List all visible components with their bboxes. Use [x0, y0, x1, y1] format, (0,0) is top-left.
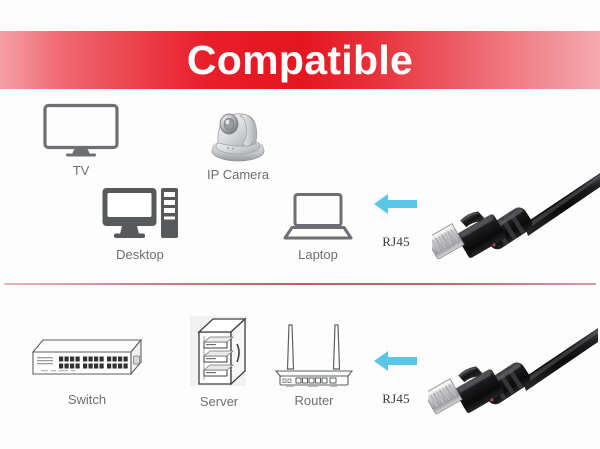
rj45-cable-icon-bottom: [428, 322, 600, 423]
device-server: Server: [186, 314, 252, 409]
section-divider: [4, 283, 596, 285]
device-ip-camera: IP Camera: [205, 101, 271, 182]
device-label-desktop: Desktop: [116, 247, 164, 262]
header-banner: Compatible: [0, 31, 600, 89]
section-consumer-devices: TV: [0, 89, 600, 283]
device-switch: Switch: [27, 334, 147, 407]
desktop-icon: [101, 185, 179, 243]
router-icon: [268, 321, 360, 389]
arrow-left-icon: [374, 348, 418, 379]
device-label-tv: TV: [73, 163, 90, 178]
device-label-server: Server: [200, 394, 238, 409]
device-label-router: Router: [294, 393, 333, 408]
connector-label-rj45-top: RJ45: [382, 234, 410, 250]
device-label-switch: Switch: [68, 392, 106, 407]
device-tv: TV: [42, 103, 120, 178]
device-label-ip-camera: IP Camera: [207, 167, 269, 182]
connector-rj45-top: RJ45: [374, 191, 418, 250]
ip-camera-icon: [205, 101, 271, 163]
page-title: Compatible: [187, 40, 413, 81]
device-desktop: Desktop: [101, 185, 179, 262]
device-laptop: Laptop: [283, 192, 353, 262]
arrow-left-icon: [374, 191, 418, 222]
tv-icon: [42, 103, 120, 159]
section-network-devices: Switch: [0, 286, 600, 449]
rj45-cable-icon-top: [432, 167, 600, 268]
laptop-icon: [283, 192, 353, 243]
connector-label-rj45-bottom: RJ45: [382, 391, 410, 407]
connector-rj45-bottom: RJ45: [374, 348, 418, 407]
switch-icon: [27, 334, 147, 388]
server-icon: [186, 314, 252, 390]
device-label-laptop: Laptop: [298, 247, 338, 262]
device-router: Router: [268, 321, 360, 408]
product-compatibility-infographic: Compatible TV: [0, 0, 600, 449]
